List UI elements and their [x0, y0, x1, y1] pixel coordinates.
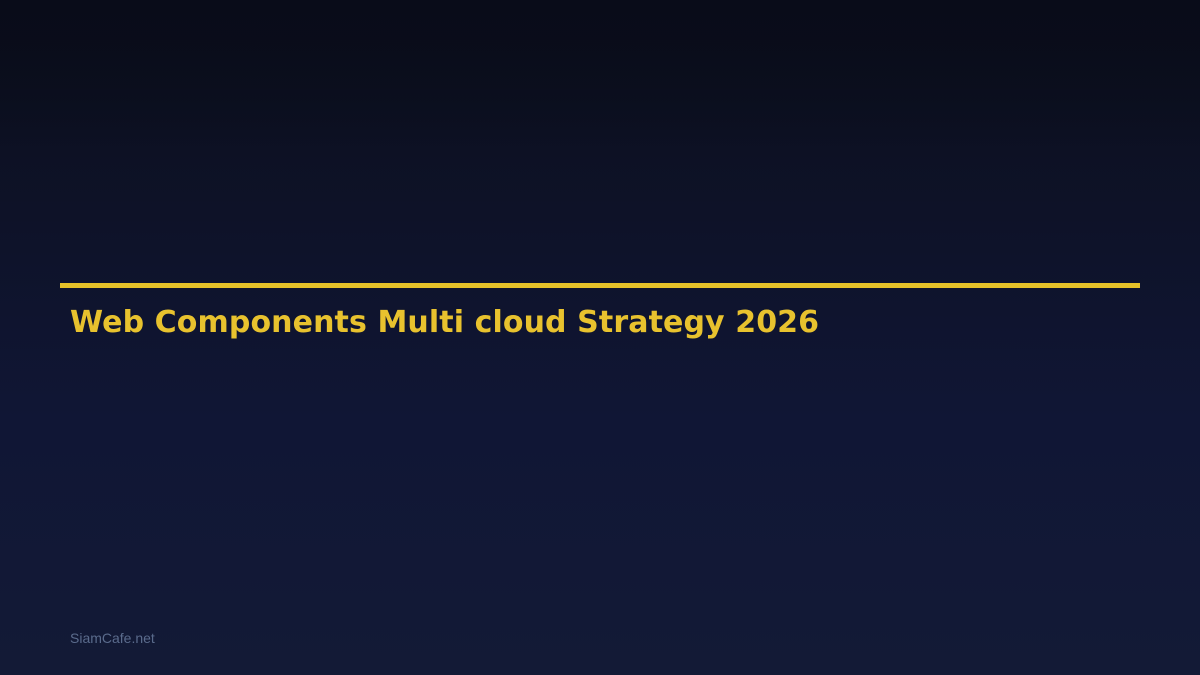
footer-watermark: SiamCafe.net: [70, 631, 155, 646]
title-block: Web Components Multi cloud Strategy 2026: [60, 283, 1140, 288]
background-gradient-overlay: [0, 0, 1200, 150]
slide-canvas: Web Components Multi cloud Strategy 2026…: [0, 0, 1200, 675]
page-title: Web Components Multi cloud Strategy 2026: [70, 308, 819, 338]
accent-rule: [60, 283, 1140, 288]
